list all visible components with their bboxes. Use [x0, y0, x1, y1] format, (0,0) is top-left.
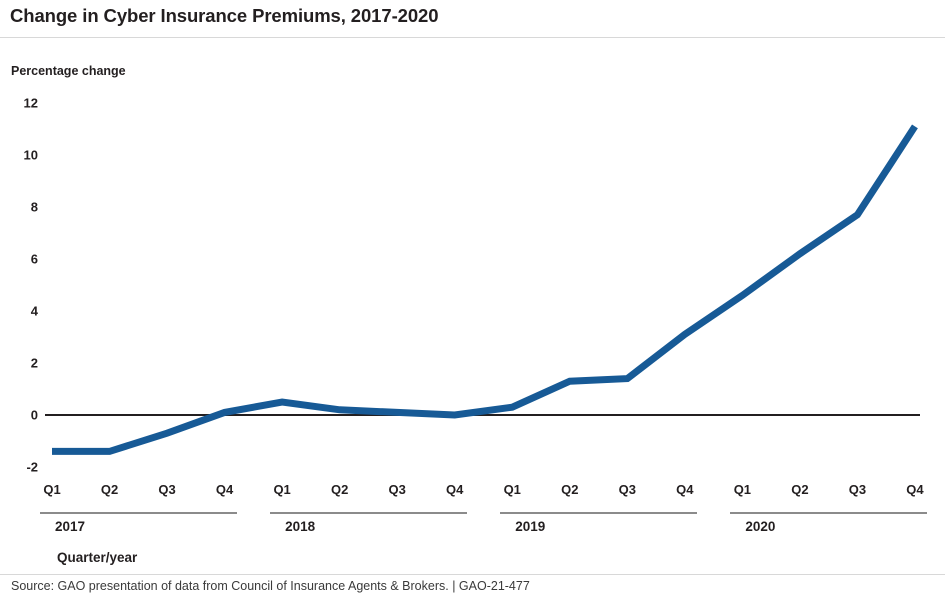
y-axis-tick: 6 [4, 252, 38, 267]
page-title: Change in Cyber Insurance Premiums, 2017… [10, 5, 438, 27]
year-group-label: 2019 [515, 519, 545, 534]
x-axis-tick: Q1 [504, 482, 521, 497]
x-axis-label: Quarter/year [57, 550, 137, 565]
x-axis-tick: Q3 [619, 482, 636, 497]
y-axis-tick: 10 [4, 148, 38, 163]
x-axis-tick: Q3 [849, 482, 866, 497]
x-axis-tick: Q3 [158, 482, 175, 497]
y-axis-tick: 2 [4, 356, 38, 371]
y-axis-tick: -2 [4, 460, 38, 475]
x-axis-tick: Q4 [906, 482, 923, 497]
year-group-label: 2020 [745, 519, 775, 534]
x-axis-tick: Q1 [43, 482, 60, 497]
y-axis-tick: 0 [4, 408, 38, 423]
x-axis-tick: Q1 [734, 482, 751, 497]
y-axis-tick: 12 [4, 96, 38, 111]
data-series-line [52, 126, 915, 451]
year-group-rule [270, 512, 467, 514]
x-axis-tick: Q2 [331, 482, 348, 497]
x-axis-tick: Q2 [101, 482, 118, 497]
year-group-rule [730, 512, 927, 514]
x-axis-tick: Q3 [389, 482, 406, 497]
plot-area: 121086420-2Q1Q2Q3Q4Q1Q2Q3Q4Q1Q2Q3Q4Q1Q2Q… [0, 0, 945, 609]
x-axis-tick: Q4 [216, 482, 233, 497]
chart-canvas [0, 0, 945, 609]
chart-page: Change in Cyber Insurance Premiums, 2017… [0, 0, 945, 609]
year-group-label: 2018 [285, 519, 315, 534]
footer-divider [0, 574, 945, 575]
x-axis-tick: Q2 [561, 482, 578, 497]
x-axis-tick: Q4 [446, 482, 463, 497]
title-divider [0, 37, 945, 38]
y-axis-tick: 8 [4, 200, 38, 215]
year-group-rule [40, 512, 237, 514]
y-axis-tick: 4 [4, 304, 38, 319]
y-axis-label: Percentage change [11, 64, 126, 78]
x-axis-tick: Q4 [676, 482, 693, 497]
year-group-label: 2017 [55, 519, 85, 534]
x-axis-tick: Q2 [791, 482, 808, 497]
zero-baseline [45, 414, 920, 416]
source-note: Source: GAO presentation of data from Co… [11, 579, 530, 593]
x-axis-tick: Q1 [273, 482, 290, 497]
year-group-rule [500, 512, 697, 514]
